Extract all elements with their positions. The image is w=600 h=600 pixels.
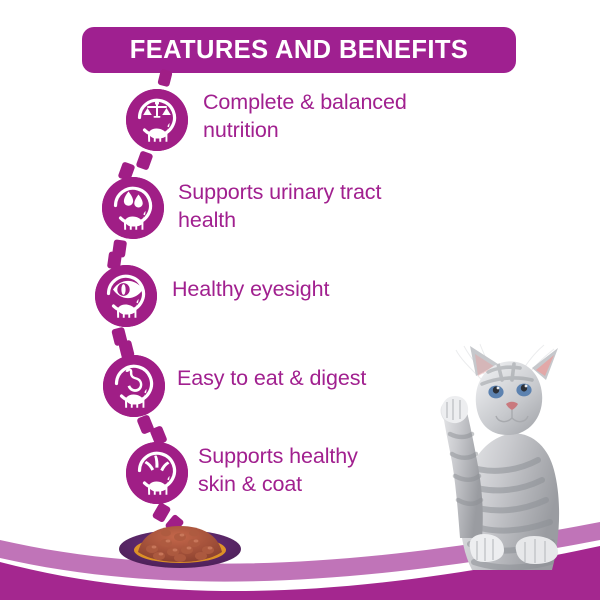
product-feature-panel: FEATURES AND BENEFITS [0, 0, 600, 600]
silver-tabby-kitten [412, 342, 594, 570]
feature-label: Complete & balanced nutrition [203, 88, 483, 144]
feature-label: Healthy eyesight [172, 275, 462, 303]
stomach-cat-icon [103, 355, 165, 417]
eye-cat-icon [95, 265, 157, 327]
water-droplets-cat-icon [102, 177, 164, 239]
cat-food-bowl [118, 523, 242, 569]
balance-scale-cat-icon [126, 89, 188, 151]
fur-coat-cat-icon [126, 442, 188, 504]
feature-label: Supports urinary tract health [178, 178, 468, 234]
